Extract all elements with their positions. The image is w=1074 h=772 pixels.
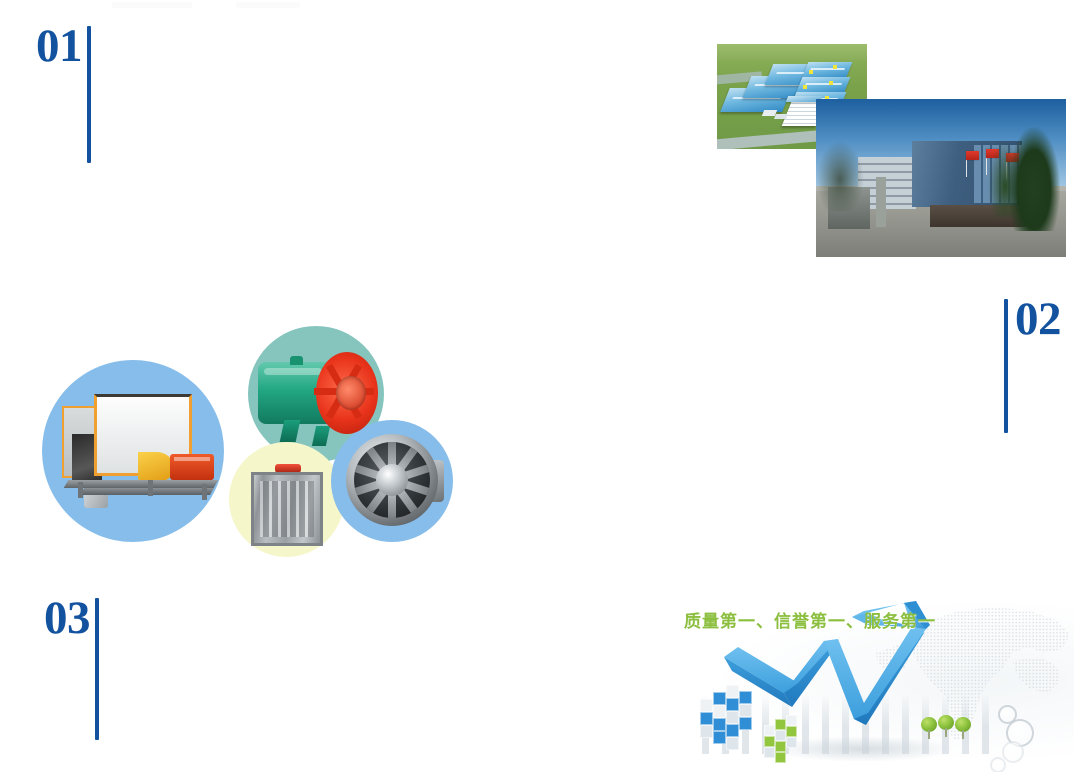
render-marker-dot <box>829 81 833 85</box>
growth-banner: 质量第一、信誉第一、服务第一 <box>672 597 1074 772</box>
render-marker-dot <box>833 65 837 69</box>
damper-body <box>251 472 323 546</box>
page-root: 01 <box>0 0 1074 772</box>
axial-fan-junction-box <box>290 356 303 365</box>
section-marker-03: 03 <box>44 598 99 740</box>
bubble-circle <box>1002 741 1024 763</box>
tree <box>955 717 971 739</box>
photo-gate-pillar <box>876 177 886 227</box>
blue-cube-cluster <box>700 685 762 747</box>
section-bar-02 <box>1004 299 1008 433</box>
axial-fan-hub <box>336 376 366 410</box>
green-cube-cluster <box>764 715 808 759</box>
scan-smudge <box>112 2 192 8</box>
impeller-outer-shell <box>346 434 438 526</box>
render-marker-dot <box>809 70 813 74</box>
axial-fan-foot <box>312 426 330 446</box>
section-marker-02: 02 <box>1004 299 1061 433</box>
cabinet-leg <box>148 480 153 496</box>
photo-tree-right <box>1008 127 1060 231</box>
banner-slogan: 质量第一、信誉第一、服务第一 <box>684 607 936 632</box>
national-flag <box>966 151 979 160</box>
section-bar-01 <box>87 26 91 163</box>
render-marker-dot <box>803 85 807 89</box>
impeller-nose-cone <box>376 464 408 496</box>
air-volume-damper <box>251 464 323 550</box>
tree <box>921 717 937 739</box>
cabinet-outlet-funnel <box>138 452 174 482</box>
section-bar-03 <box>95 598 99 740</box>
office-building-photo <box>816 99 1066 257</box>
cabinet-motor <box>170 454 214 480</box>
bubble-circle <box>990 757 1006 772</box>
section-number-02: 02 <box>1015 299 1061 339</box>
cabinet-base-frame <box>80 488 214 495</box>
section-number-03: 03 <box>44 598 90 638</box>
cabinet-centrifugal-fan-unit <box>56 384 226 516</box>
photo-tree-left <box>816 141 864 211</box>
render-truck <box>774 114 788 119</box>
cabinet-leg <box>78 482 83 498</box>
metal-axial-impeller <box>346 434 444 530</box>
cabinet-base-frame <box>64 480 219 488</box>
render-horizon <box>717 44 867 60</box>
cabinet-side-panel <box>62 406 96 478</box>
product-showcase <box>36 322 426 557</box>
section-marker-01: 01 <box>36 26 91 163</box>
scan-smudge <box>236 2 300 8</box>
axial-fan-foot <box>280 420 301 442</box>
cabinet-leg <box>202 484 207 500</box>
tree <box>938 715 954 737</box>
section-number-01: 01 <box>36 26 82 66</box>
